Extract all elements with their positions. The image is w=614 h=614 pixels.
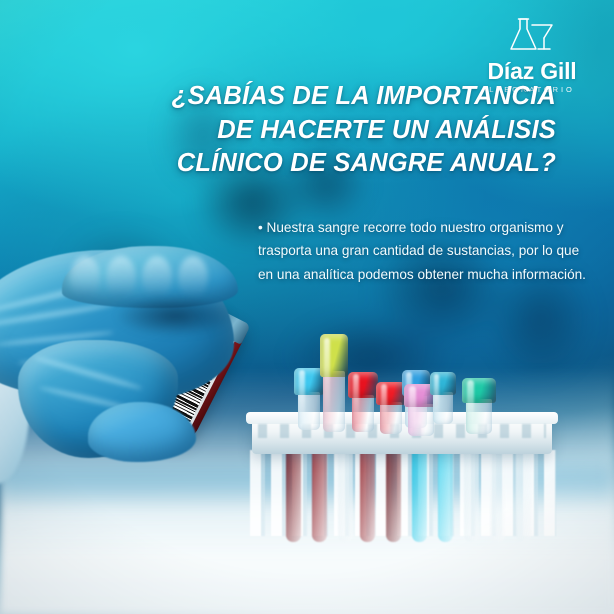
tube-gloss (409, 386, 416, 428)
body-text: Nuestra sangre recorre todo nuestro orga… (258, 220, 586, 282)
under-tube-clear-1 (338, 450, 353, 542)
yellow-green-cap-tube (320, 334, 348, 432)
headline-line-3: CLÍNICO DE SANGRE ANUAL? (0, 147, 556, 181)
tube-gloss (381, 384, 387, 426)
headline-line-2: DE HACERTE UN ANÁLISIS (0, 114, 556, 148)
under-tube-blood-4 (386, 450, 401, 542)
poster-canvas: Díaz Gill LABORATORIO ¿SABÍAS DE LA IMPO… (0, 0, 614, 614)
teal-cap-tube-back (430, 372, 456, 424)
tube-gloss (353, 374, 359, 422)
green-teal-cap-tube (462, 378, 496, 434)
glove-shadow (116, 296, 234, 336)
under-tube-clear-3 (490, 450, 505, 542)
tube-gloss (467, 380, 474, 425)
under-tube-blood-3 (360, 450, 375, 542)
bullet-marker: • (258, 220, 263, 235)
tube-gloss (434, 374, 439, 416)
glove-fingers (88, 402, 196, 462)
under-tube-blood-2 (312, 450, 327, 542)
tube-gloss (324, 338, 330, 416)
under-tube-cyan-2 (438, 450, 453, 542)
headline: ¿SABÍAS DE LA IMPORTANCIA DE HACERTE UN … (0, 80, 556, 181)
under-tube-clear-4 (516, 450, 531, 542)
tube-gloss (299, 370, 305, 420)
under-tube-cyan-1 (412, 450, 427, 542)
body-paragraph: • Nuestra sangre recorre todo nuestro or… (258, 216, 596, 286)
flask-and-beaker-icon (474, 14, 590, 56)
under-tube-blood-1 (286, 450, 301, 542)
under-tube-clear-2 (464, 450, 479, 542)
red-cap-tube-1 (348, 372, 378, 432)
headline-line-1: ¿SABÍAS DE LA IMPORTANCIA (0, 80, 556, 114)
gloved-hand (0, 244, 256, 514)
